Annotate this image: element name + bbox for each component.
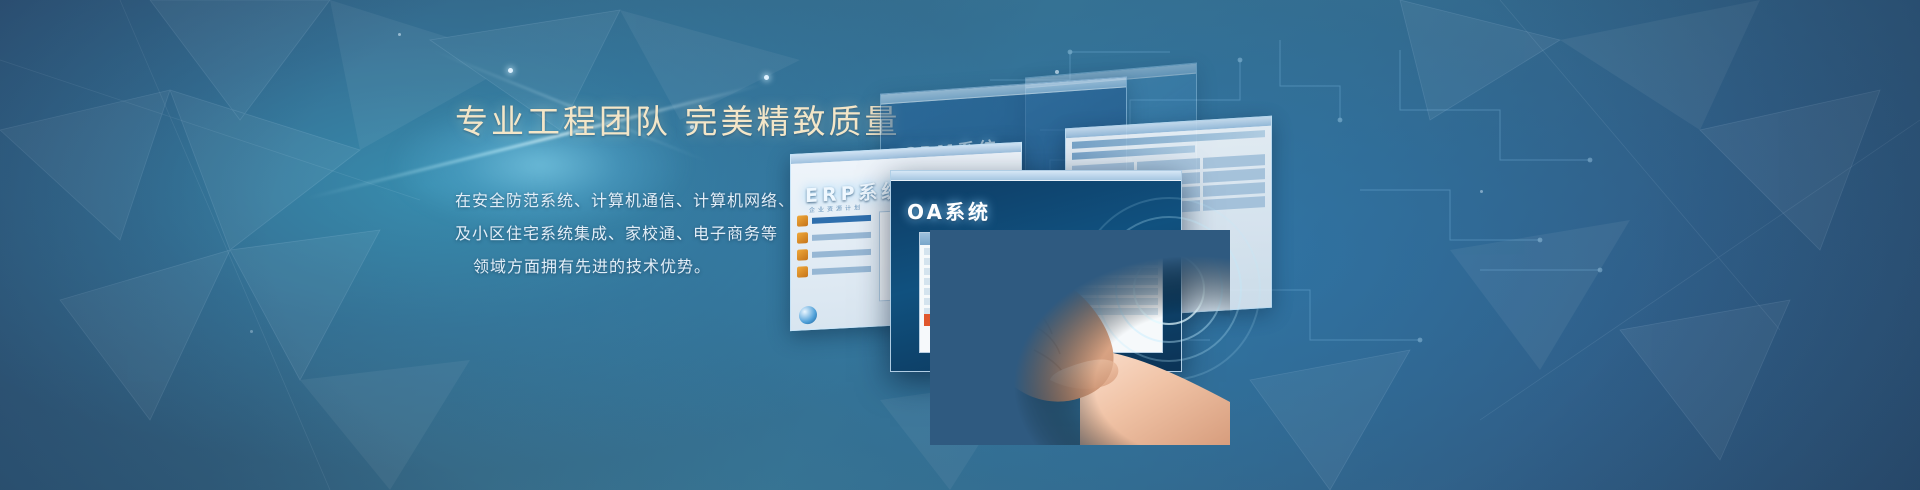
- status-tile: [1000, 314, 1017, 326]
- hero-banner: 专业工程团队 完美精致质量 在安全防范系统、计算机通信、计算机网络、智能大厦 及…: [0, 0, 1920, 490]
- status-tile: [943, 314, 960, 326]
- globe-icon: [799, 306, 817, 325]
- folder-icon: [797, 266, 808, 278]
- folder-icon: [797, 215, 808, 227]
- folder-icon: [797, 249, 808, 261]
- erp-menu-item[interactable]: [797, 246, 871, 261]
- erp-menu-item[interactable]: [797, 263, 871, 278]
- window-body: OA系统: [891, 180, 1181, 371]
- oa-screen-title: OA系统: [907, 196, 991, 225]
- folder-icon: [797, 232, 808, 244]
- sheet-row: [924, 248, 1158, 255]
- sheet-row: [924, 258, 1158, 265]
- oa-data-sheet: [919, 232, 1163, 353]
- sparkle-dot: [508, 68, 513, 73]
- grid-cell: [1203, 196, 1265, 211]
- grid-cell: [1203, 168, 1265, 183]
- sparkle-dot: [764, 75, 769, 80]
- sparkle-dot: [250, 330, 253, 333]
- sparkle-dot: [1480, 190, 1483, 193]
- grid-cell: [1203, 182, 1265, 197]
- status-tile: [981, 314, 998, 326]
- oa-system-screen[interactable]: OA系统: [890, 170, 1182, 372]
- grid-cell: [1203, 154, 1265, 169]
- sparkle-dot: [398, 33, 401, 36]
- oa-status-tiles: [924, 314, 1017, 326]
- sheet-header-row: [920, 233, 1162, 245]
- status-tile: [924, 314, 941, 326]
- sheet-row: [924, 298, 1158, 305]
- sheet-row: [924, 288, 1158, 295]
- erp-menu-item[interactable]: [797, 229, 871, 244]
- software-screens-group: CRM系统 客户关系管理系统: [780, 30, 1400, 370]
- sheet-row: [924, 268, 1158, 275]
- sheet-row: [924, 278, 1158, 285]
- erp-sidebar-menu[interactable]: [797, 212, 871, 284]
- status-tile: [962, 314, 979, 326]
